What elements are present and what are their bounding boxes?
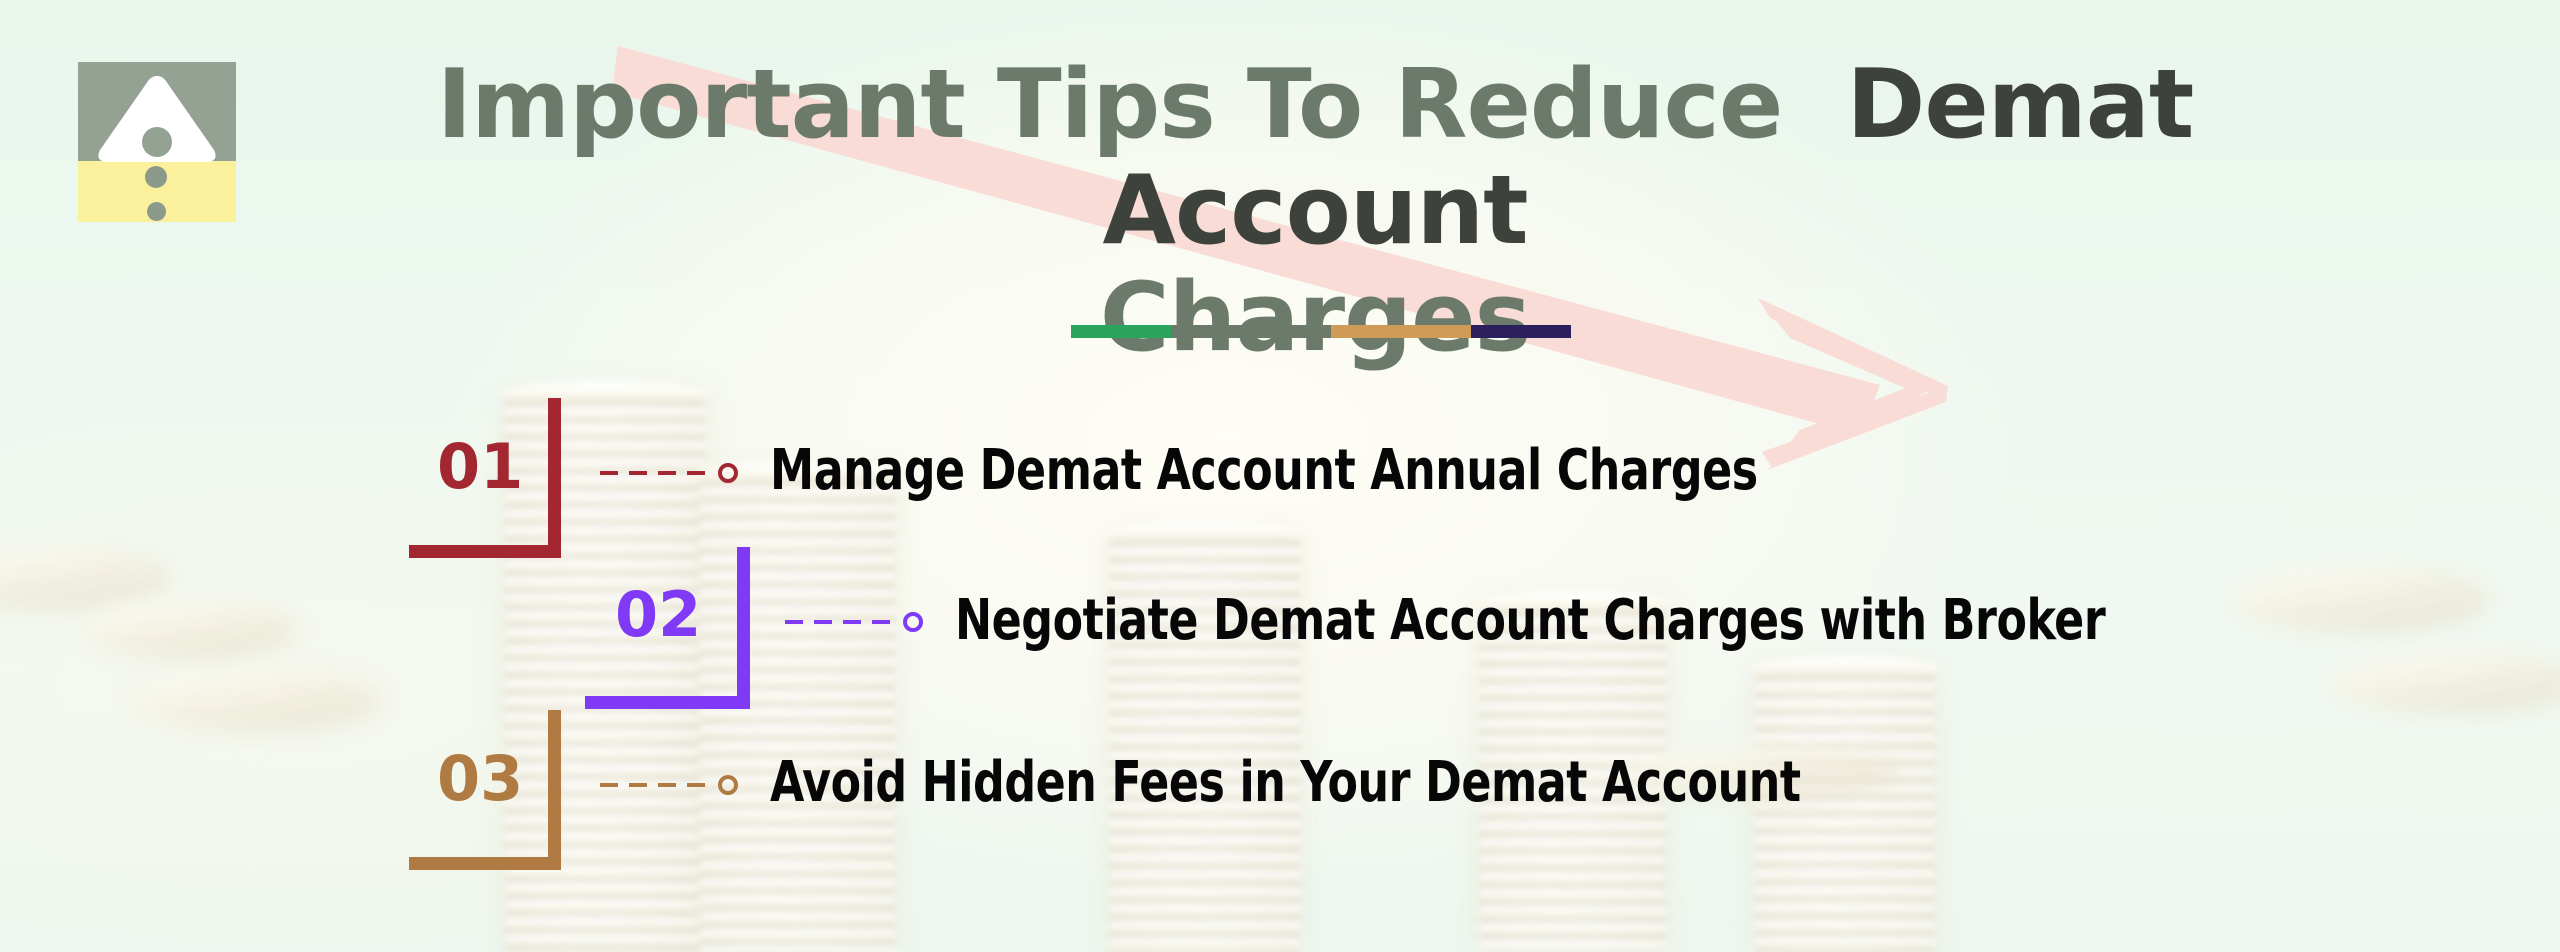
tip-number-03: 03 [437,742,523,815]
tip-connector-01 [600,463,738,483]
connector-dash [600,471,618,475]
connector-dash [814,620,832,624]
logo [78,62,236,222]
divider-segment-gold [1331,325,1471,338]
tip-bracket-02-vertical [737,547,750,709]
tip-bracket-03-base [409,857,561,870]
infographic-canvas: Important Tips To Reduce Demat Account C… [0,0,2560,952]
connector-dash [658,471,676,475]
tip-bracket-02-base [585,696,750,709]
connector-ring-03 [718,775,738,795]
warning-triangle-icon [92,72,222,164]
divider-segment-navy [1471,325,1571,338]
connector-dash [872,620,890,624]
connector-dash [629,471,647,475]
tip-label-03: Avoid Hidden Fees in Your Demat Account [770,750,1801,815]
tip-bracket-01-base [409,545,561,558]
connector-dash [658,783,676,787]
tip-bracket-01-vertical [548,398,561,558]
tip-connector-03 [600,775,738,795]
page-title-light-part: Important Tips To Reduce [437,50,1783,160]
tip-label-02: Negotiate Demat Account Charges with Bro… [955,588,2105,653]
tip-label-01: Manage Demat Account Annual Charges [770,438,1758,503]
connector-dash [785,620,803,624]
tip-number-02: 02 [615,578,701,651]
connector-dash [600,783,618,787]
four-segment-divider [1071,325,1571,338]
connector-dash [687,471,705,475]
tip-number-01: 01 [437,430,523,503]
divider-segment-gray [1171,325,1331,338]
page-title-line2: Charges [1100,263,1530,373]
foreground-coin-4 [2230,565,2490,633]
connector-dash [843,620,861,624]
foreground-coin-5 [2330,650,2560,714]
connector-ring-01 [718,463,738,483]
foreground-coin-1 [0,545,170,611]
divider-segment-green [1071,325,1171,338]
tip-connector-02 [785,612,923,632]
coin-stack-2 [700,472,895,952]
foreground-coin-2 [85,600,295,660]
page-title: Important Tips To Reduce Demat Account C… [280,52,2350,371]
logo-dot-upper [145,166,167,188]
tip-bracket-03-vertical [548,710,561,870]
foreground-coin-3 [130,670,380,732]
connector-dash [629,783,647,787]
logo-dot-lower [147,202,166,221]
connector-ring-02 [903,612,923,632]
connector-dash [687,783,705,787]
